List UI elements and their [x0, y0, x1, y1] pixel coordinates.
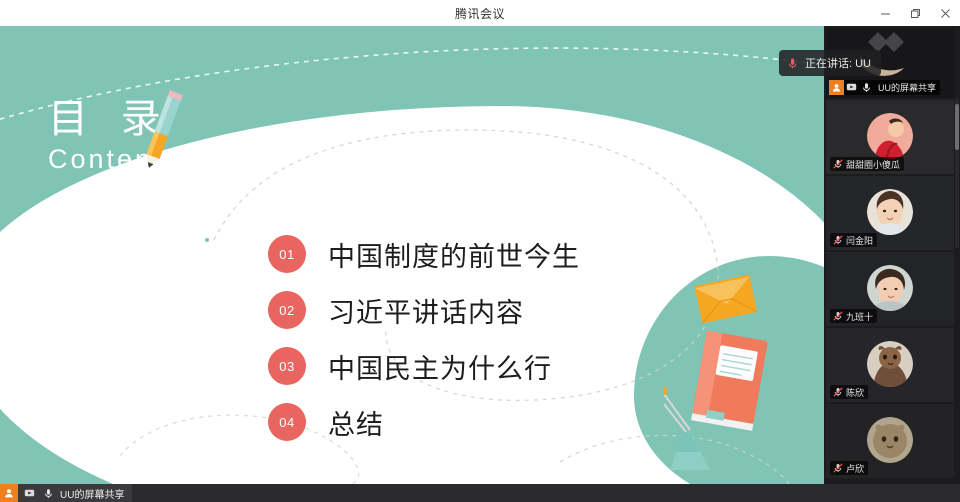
accent-dot: [205, 238, 209, 242]
participant-name: 九班十: [846, 310, 873, 323]
mic-muted-icon: [833, 387, 843, 397]
participant-name: 陈欣: [846, 386, 864, 399]
participant-controls[interactable]: UU的屏幕共享: [829, 80, 940, 95]
close-icon[interactable]: [930, 0, 960, 26]
item-number: 04: [268, 403, 306, 441]
item-number: 03: [268, 347, 306, 385]
avatar: [867, 341, 913, 387]
shared-screen-stage[interactable]: 目 录 Contents 01 中国制度的前世今: [0, 26, 824, 484]
item-number: 01: [268, 235, 306, 273]
mic-muted-icon: [833, 311, 843, 321]
envelope-icon: [694, 275, 757, 324]
participant-tile[interactable]: 陈欣: [826, 328, 954, 402]
list-item: 02 习近平讲话内容: [268, 282, 580, 338]
window-title: 腾讯会议: [455, 5, 505, 22]
participant-name-bar: 陈欣: [830, 385, 868, 399]
avatar: [867, 417, 913, 463]
sidebar-scrollbar[interactable]: [955, 98, 959, 248]
list-item: 01 中国制度的前世今生: [268, 226, 580, 282]
mic-muted-icon: [833, 463, 843, 473]
participants-sidebar[interactable]: UU的屏幕共享: [824, 26, 960, 484]
mic-active-icon: [786, 57, 799, 70]
host-icon: [0, 484, 18, 502]
title-bar: 腾讯会议: [0, 0, 960, 26]
minimize-icon[interactable]: [870, 0, 900, 26]
host-icon: [829, 80, 844, 95]
window-controls: [870, 0, 960, 26]
mic-muted-icon: [833, 159, 843, 169]
sidebar-scrollbar-thumb[interactable]: [955, 104, 959, 150]
participant-name: 甜甜圈小傻瓜: [846, 158, 900, 171]
pencil-icon: [130, 86, 194, 172]
list-item: 03 中国民主为什么行: [268, 338, 580, 394]
participant-name-bar: 闫金阳: [830, 233, 877, 247]
participant-name: UU的屏幕共享: [878, 81, 936, 94]
item-number: 02: [268, 291, 306, 329]
avatar: [867, 265, 913, 311]
participant-tile[interactable]: 甜甜圈小傻瓜: [826, 100, 954, 174]
screen-share-icon[interactable]: [844, 80, 859, 95]
mic-icon[interactable]: [859, 80, 874, 95]
meeting-window: 腾讯会议: [0, 0, 960, 502]
item-label: 总结: [328, 403, 384, 442]
participant-name-bar: 九班十: [830, 309, 877, 323]
restore-icon[interactable]: [900, 0, 930, 26]
participant-name-bar: 卢欣: [830, 461, 868, 475]
participant-name: 闫金阳: [846, 234, 873, 247]
book-icon: [691, 330, 768, 430]
participant-tile[interactable]: 闫金阳: [826, 176, 954, 250]
screen-share-icon[interactable]: [22, 486, 37, 501]
mic-muted-icon: [833, 235, 843, 245]
participant-tile[interactable]: 卢欣: [826, 404, 954, 478]
screen-share-label: UU的屏幕共享: [60, 486, 124, 501]
speaking-indicator-label: 正在讲话: UU: [805, 55, 871, 71]
participant-name: 卢欣: [846, 462, 864, 475]
participant-name-bar: 甜甜圈小傻瓜: [830, 157, 904, 171]
item-label: 中国民主为什么行: [328, 347, 552, 386]
participant-tile[interactable]: 九班十: [826, 252, 954, 326]
item-label: 习近平讲话内容: [328, 291, 524, 330]
speaking-indicator-tooltip: 正在讲话: UU: [779, 50, 881, 76]
presentation-slide: 目 录 Contents 01 中国制度的前世今: [0, 26, 824, 484]
avatar: [867, 189, 913, 235]
list-item: 04 总结: [268, 394, 580, 450]
contents-list: 01 中国制度的前世今生 02 习近平讲话内容 03 中国民主为什么行 04 总…: [268, 226, 580, 450]
mic-icon[interactable]: [41, 486, 56, 501]
avatar: [867, 113, 913, 159]
slide-decorations: [664, 274, 814, 484]
screen-share-status[interactable]: UU的屏幕共享: [0, 484, 132, 502]
bottom-bar: UU的屏幕共享: [0, 484, 960, 502]
item-label: 中国制度的前世今生: [328, 235, 580, 274]
